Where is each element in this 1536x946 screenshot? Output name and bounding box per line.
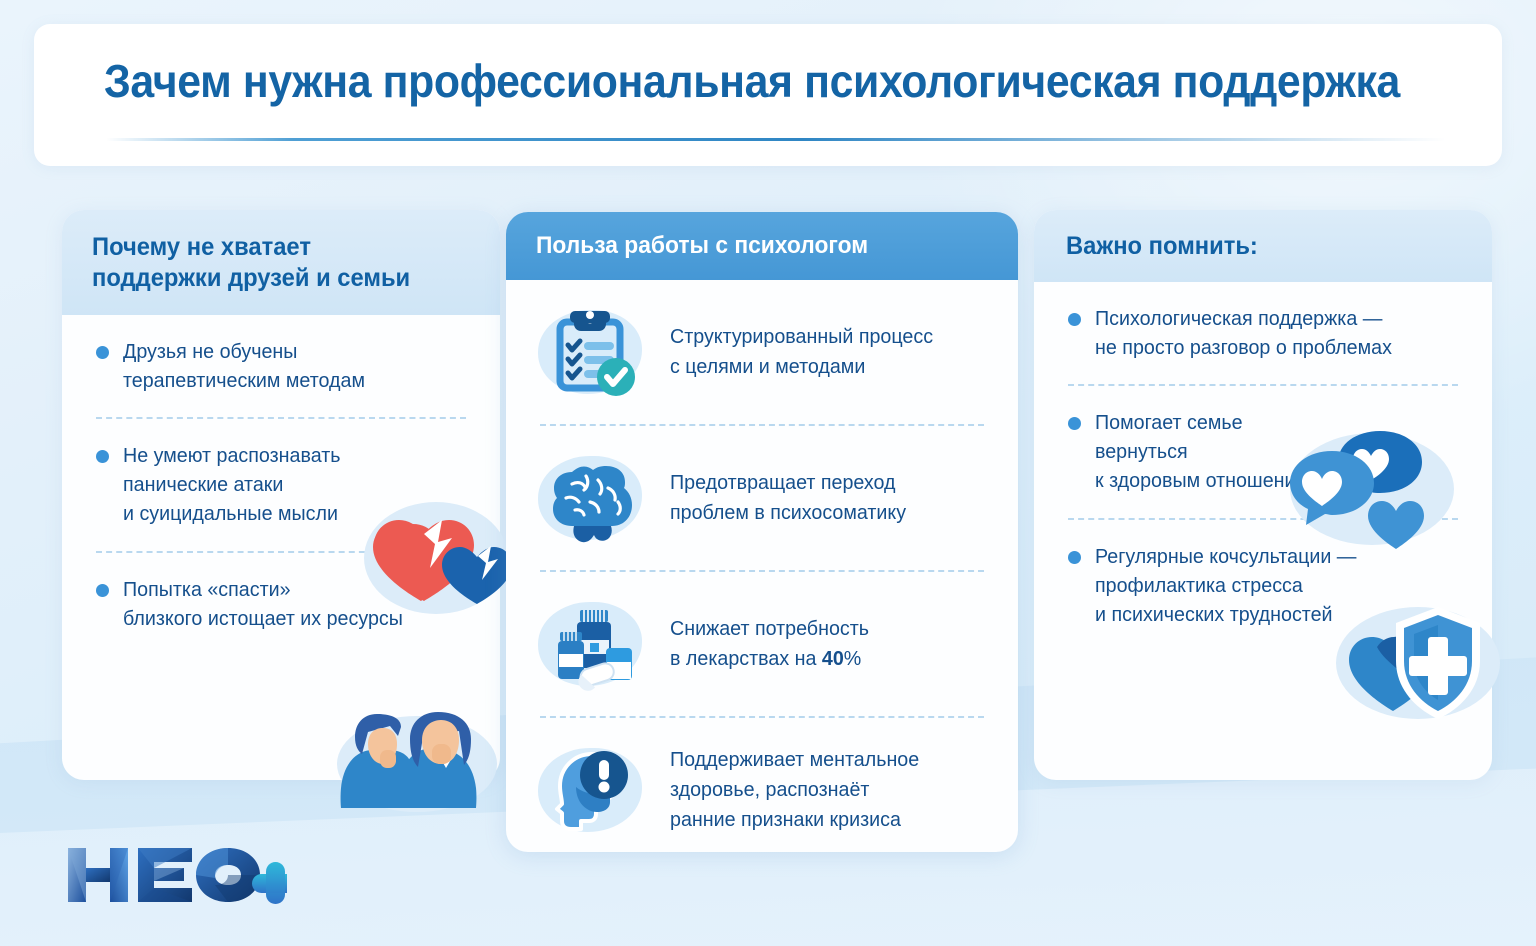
list-item[interactable]: Структурированный процесс с целями и мет… [534,280,990,424]
infographic-canvas: Зачем нужна профессиональная психологиче… [0,0,1536,946]
list-item-label: Регулярные кочсультации — профилактика с… [1095,542,1356,629]
brain-icon [536,446,652,550]
middle-card-body: Структурированный процесс с целями и мет… [506,280,1018,852]
bullet-dot-icon [96,584,109,597]
bullet-dot-icon [1068,417,1081,430]
list-item[interactable]: Психологическая поддержка — не просто ра… [1062,282,1464,384]
medicine-bottles-icon [536,592,652,696]
benefit-suffix: % [844,647,862,670]
benefit-value: 40 [822,647,844,670]
head-alert-icon [536,738,652,842]
list-item[interactable]: Не умеют распознавать панические атаки и… [90,419,472,550]
list-item[interactable]: Попытка «спасти» близкого истощает их ре… [90,553,472,655]
list-item-label: Снижает потребность в лекарствах на 40% [670,614,869,673]
list-item[interactable]: Друзья не обучены терапевтическим метода… [90,315,472,417]
bullet-dot-icon [1068,313,1081,326]
middle-card-title: Польза работы с психологом [536,231,868,260]
bullet-dot-icon [96,346,109,359]
list-item[interactable]: Предотвращает переход проблем в психосом… [534,426,990,570]
card-why-friends-not-enough: Почему не хватает поддержки друзей и сем… [62,210,500,780]
right-card-header: Важно помнить: [1034,210,1492,282]
list-item[interactable]: Помогает семье вернуться к здоровым отно… [1062,386,1464,517]
title-underline [106,138,1446,141]
list-item[interactable]: Поддерживает ментальное здоровье, распоз… [534,718,990,852]
list-item[interactable]: Снижает потребность в лекарствах на 40% [534,572,990,716]
list-item-label: Друзья не обучены терапевтическим метода… [123,337,365,395]
bullet-dot-icon [1068,551,1081,564]
list-item[interactable]: Регулярные кочсультации — профилактика с… [1062,520,1464,651]
page-title: Зачем нужна профессиональная психологиче… [104,54,1400,108]
neo-plus-logo-icon [62,836,287,914]
right-card-title: Важно помнить: [1066,231,1258,262]
list-item-label: Предотвращает переход проблем в психосом… [670,468,906,527]
list-item-label: Структурированный процесс с целями и мет… [670,322,933,381]
bullet-dot-icon [96,450,109,463]
list-item-label: Психологическая поддержка — не просто ра… [1095,304,1392,362]
left-card-title: Почему не хватает поддержки друзей и сем… [92,232,410,293]
card-benefits-of-psychologist: Польза работы с психологом [506,212,1018,852]
left-card-body: Друзья не обучены терапевтическим метода… [62,315,500,655]
list-item-label: Попытка «спасти» близкого истощает их ре… [123,575,403,633]
card-important-to-remember: Важно помнить: Психологическая поддержка… [1034,210,1492,780]
title-card: Зачем нужна профессиональная психологиче… [34,24,1502,166]
left-card-header: Почему не хватает поддержки друзей и сем… [62,210,500,315]
middle-card-header: Польза работы с психологом [506,212,1018,280]
right-card-body: Психологическая поддержка — не просто ра… [1034,282,1492,651]
list-item-label: Не умеют распознавать панические атаки и… [123,441,341,528]
brand-logo[interactable] [62,836,287,919]
clipboard-checklist-icon [536,300,652,404]
list-item-label: Поддерживает ментальное здоровье, распоз… [670,745,919,834]
list-item-label: Помогает семье вернуться к здоровым отно… [1095,408,1320,495]
